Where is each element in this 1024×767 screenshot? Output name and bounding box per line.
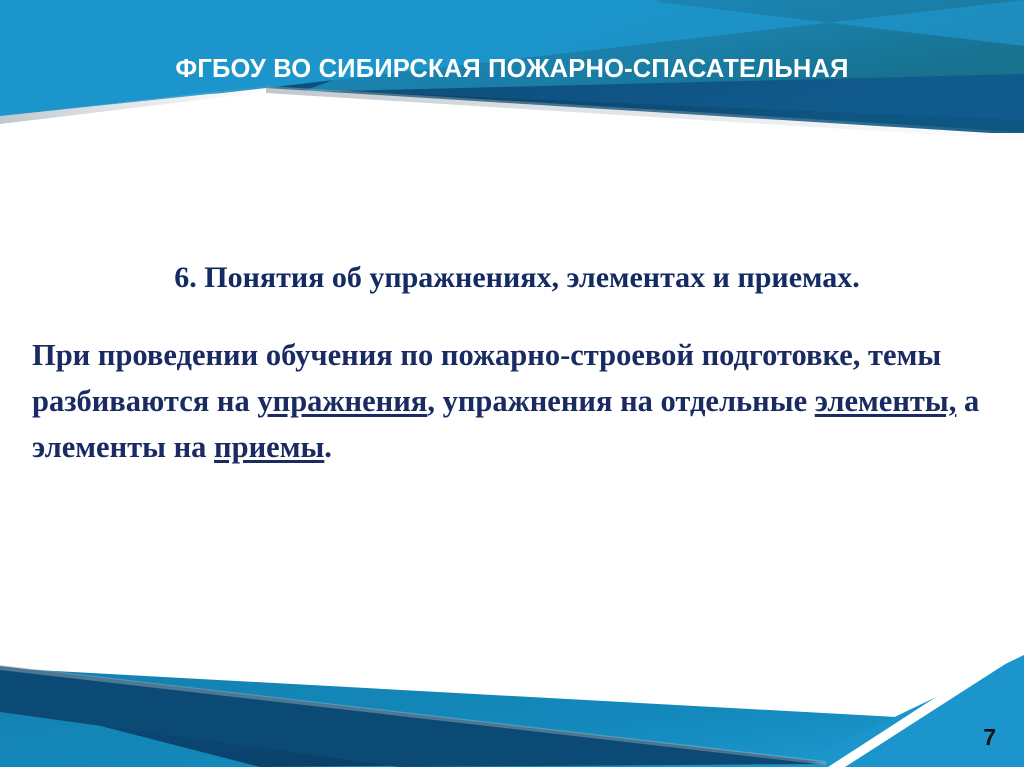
body-term-underlined: упражнения: [257, 384, 427, 418]
body-text-run: .: [324, 430, 332, 464]
presentation-slide: ФГБОУ ВО СИБИРСКАЯ ПОЖАРНО-СПАСАТЕЛЬНАЯ …: [0, 0, 1024, 767]
page-number: 7: [983, 726, 996, 749]
slide-content: 6. Понятия об упражнениях, элементах и п…: [28, 258, 996, 470]
slide-body-text: При проведении обучения по пожарно-строе…: [28, 332, 996, 470]
body-term-underlined: приемы: [214, 430, 324, 464]
body-text-run: , упражнения на отдельные: [427, 384, 814, 418]
body-term-underlined: элементы,: [815, 384, 957, 418]
slide-heading: 6. Понятия об упражнениях, элементах и п…: [28, 258, 996, 298]
